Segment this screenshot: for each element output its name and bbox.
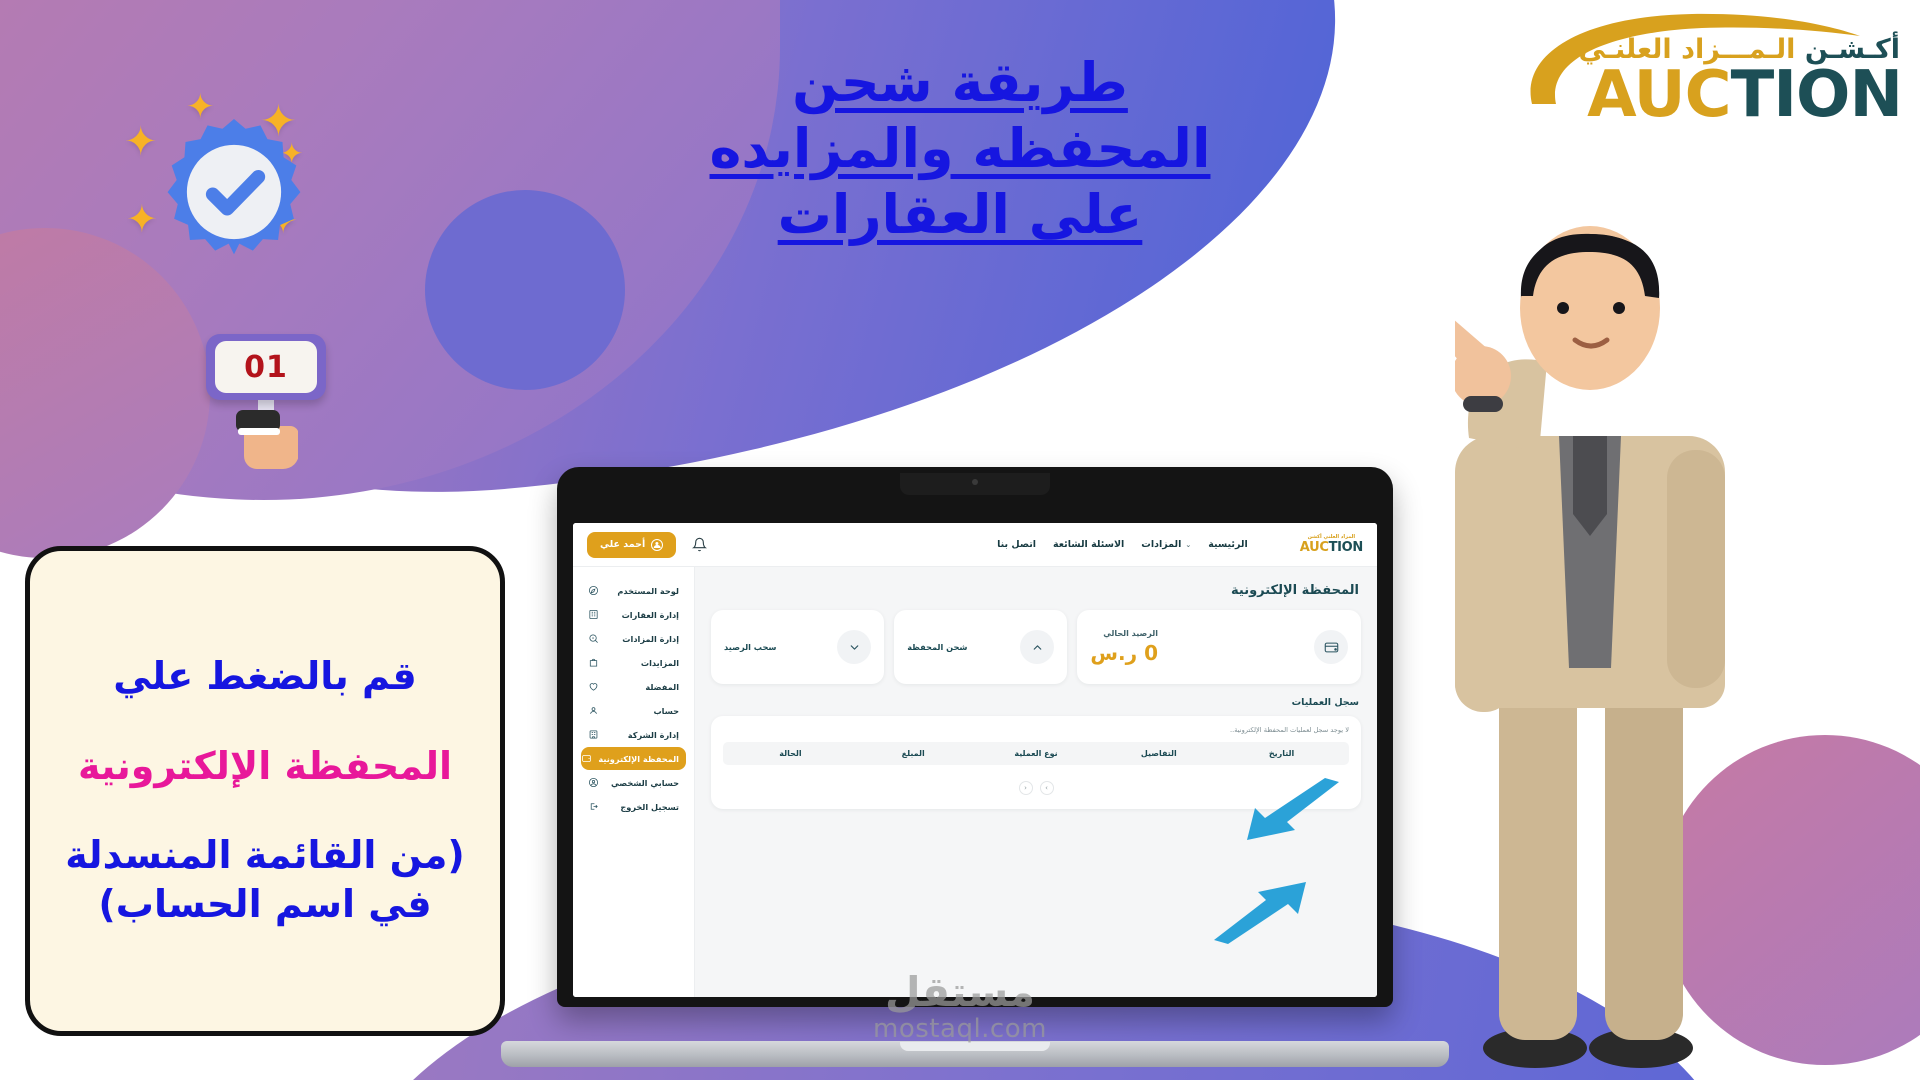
sidebar-item-wallet[interactable]: المحفظة الإلكترونية bbox=[581, 747, 686, 770]
auction-web-app: المزاد العلني أكشن AUCTION الرئيسية ⌄ ال… bbox=[573, 523, 1377, 997]
pager-prev-button[interactable]: ‹ bbox=[1019, 781, 1033, 795]
logo-wordmark-tion: TION bbox=[1731, 58, 1902, 132]
nav-link-home-label: الرئيسية bbox=[1208, 539, 1247, 550]
transactions-log-title: سجل العمليات bbox=[713, 697, 1359, 708]
company-icon bbox=[588, 729, 599, 740]
gavel-search-icon bbox=[588, 633, 599, 644]
balance-value: 0 ر.س bbox=[1090, 641, 1158, 665]
column-header-details: التفاصيل bbox=[1097, 749, 1220, 758]
topup-wallet-label: شحن المحفظة bbox=[907, 642, 967, 652]
withdraw-balance-label: سحب الرصيد bbox=[724, 642, 776, 652]
sidebar-item-favorites-label: المفضلة bbox=[605, 682, 679, 692]
laptop-camera-icon bbox=[972, 479, 978, 485]
laptop-lid: المزاد العلني أكشن AUCTION الرئيسية ⌄ ال… bbox=[557, 467, 1393, 1007]
page-title: المحفظة الإلكترونية bbox=[713, 583, 1359, 598]
step-number-label: 01 bbox=[215, 341, 317, 393]
auction-logo: أكـشـن الـمـــزاد العلنـي AUCTION bbox=[1516, 8, 1906, 128]
user-avatar-icon bbox=[651, 539, 663, 551]
nav-link-auctions[interactable]: ⌄ المزادات bbox=[1141, 539, 1191, 550]
column-header-date: التاريخ bbox=[1220, 749, 1343, 758]
sidebar-item-wallet-label: المحفظة الإلكترونية bbox=[598, 754, 679, 764]
user-account-button[interactable]: أحمد علي bbox=[587, 532, 676, 558]
navbar-logo-wordmark: AUCTION bbox=[1300, 540, 1363, 555]
sidebar-item-logout-label: تسجيل الخروج bbox=[605, 802, 679, 812]
column-header-operation-type: نوع العملية bbox=[975, 749, 1098, 758]
withdraw-balance-card[interactable]: سحب الرصيد bbox=[711, 610, 884, 684]
sidebar-item-properties-label: إدارة العقارات bbox=[605, 610, 679, 620]
sidebar-item-favorites[interactable]: المفضلة bbox=[581, 675, 686, 698]
chevron-up-icon bbox=[1020, 630, 1054, 664]
instruction-line-1: قم بالضغط علي bbox=[113, 652, 416, 701]
sidebar-item-bids-label: المزايدات bbox=[605, 658, 679, 668]
bag-icon bbox=[588, 657, 599, 668]
sidebar-item-company[interactable]: إدارة الشركة bbox=[581, 723, 686, 746]
pager-next-button[interactable]: › bbox=[1040, 781, 1054, 795]
laptop-screen: المزاد العلني أكشن AUCTION الرئيسية ⌄ ال… bbox=[573, 523, 1377, 997]
sidebar-item-manage-auctions-label: إدارة المزادات bbox=[605, 634, 679, 644]
sidebar-item-manage-auctions[interactable]: إدارة المزادات bbox=[581, 627, 686, 650]
pointing-character-illustration bbox=[1455, 200, 1725, 1080]
balance-card: الرصيد الحالي 0 ر.س bbox=[1077, 610, 1361, 684]
sidebar-item-my-profile[interactable]: حسابي الشخصي bbox=[581, 771, 686, 794]
hand-holding-sign-icon bbox=[236, 410, 298, 476]
step-number-sign: 01 bbox=[206, 334, 326, 429]
heart-icon bbox=[588, 681, 599, 692]
navbar-right-group: أحمد علي bbox=[587, 532, 707, 558]
bell-icon[interactable] bbox=[692, 537, 707, 552]
instruction-line-3: (من القائمة المنسدلة في اسم الحساب) bbox=[58, 831, 472, 930]
transactions-empty-note: لا يوجد سجل لعمليات المحفظة الإلكترونية.… bbox=[723, 726, 1349, 734]
dashboard-icon bbox=[588, 585, 599, 596]
sidebar-item-my-profile-label: حسابي الشخصي bbox=[605, 778, 679, 788]
person-icon bbox=[588, 777, 599, 788]
transactions-table-header: التاريخ التفاصيل نوع العملية المبلغ الحا… bbox=[723, 742, 1349, 765]
user-name-label: أحمد علي bbox=[600, 539, 645, 550]
transactions-panel: لا يوجد سجل لعمليات المحفظة الإلكترونية.… bbox=[711, 716, 1361, 809]
wallet-cards-row: الرصيد الحالي 0 ر.س شحن المحفظة bbox=[711, 610, 1361, 684]
logout-icon bbox=[588, 801, 599, 812]
title-line-1: طريقة شحن bbox=[560, 50, 1360, 116]
account-icon bbox=[588, 705, 599, 716]
topup-wallet-card[interactable]: شحن المحفظة bbox=[894, 610, 1067, 684]
sidebar-item-dashboard[interactable]: لوحة المستخدم bbox=[581, 579, 686, 602]
sign-board: 01 bbox=[206, 334, 326, 400]
credit-card-icon bbox=[1314, 630, 1348, 664]
navbar-links: الرئيسية ⌄ المزادات الاسئلة الشائعة اتصل… bbox=[997, 539, 1248, 550]
instruction-line-2: المحفظة الإلكترونية bbox=[78, 742, 452, 791]
logo-wordmark: AUCTION bbox=[1587, 58, 1902, 132]
watermark-arabic: مستقل bbox=[873, 968, 1047, 1016]
sidebar-item-logout[interactable]: تسجيل الخروج bbox=[581, 795, 686, 818]
sidebar-item-properties[interactable]: إدارة العقارات bbox=[581, 603, 686, 626]
balance-text: الرصيد الحالي 0 ر.س bbox=[1090, 629, 1158, 665]
navbar-logo[interactable]: المزاد العلني أكشن AUCTION bbox=[1300, 534, 1363, 555]
sidebar-item-account-label: حساب bbox=[605, 706, 679, 716]
sidebar-item-dashboard-label: لوحة المستخدم bbox=[605, 586, 679, 596]
nav-link-contact[interactable]: اتصل بنا bbox=[997, 539, 1036, 550]
poster-canvas: ✦ ✦ ✦ ✦ ✦ ✦ ✦ ✦ طريقة شحن المحفظه والمزا… bbox=[0, 0, 1920, 1080]
column-header-status: الحالة bbox=[729, 749, 852, 758]
nav-link-auctions-label: المزادات bbox=[1141, 539, 1181, 550]
transactions-pager: › ‹ bbox=[723, 781, 1349, 795]
sidebar-item-company-label: إدارة الشركة bbox=[605, 730, 679, 740]
chevron-down-icon: ⌄ bbox=[1185, 541, 1191, 549]
wallet-icon bbox=[581, 753, 592, 764]
column-header-amount: المبلغ bbox=[852, 749, 975, 758]
app-sidebar: لوحة المستخدم إدارة العقارات إدارة المزا… bbox=[573, 567, 695, 997]
sparkle-icon: ✦ bbox=[126, 200, 158, 238]
sidebar-item-account[interactable]: حساب bbox=[581, 699, 686, 722]
mostaql-watermark: مستقل mostaql.com bbox=[873, 968, 1047, 1044]
sidebar-item-bids[interactable]: المزايدات bbox=[581, 651, 686, 674]
balance-caption: الرصيد الحالي bbox=[1090, 629, 1158, 638]
chevron-down-icon bbox=[837, 630, 871, 664]
navbar-logo-auc: AUC bbox=[1300, 540, 1329, 555]
wallet-content: المحفظة الإلكترونية bbox=[695, 567, 1377, 997]
verified-badge-illustration: ✦ ✦ ✦ ✦ ✦ ✦ ✦ ✦ bbox=[118, 78, 348, 308]
nav-link-home[interactable]: الرئيسية bbox=[1208, 539, 1247, 550]
building-icon bbox=[588, 609, 599, 620]
instruction-card: قم بالضغط علي المحفظة الإلكترونية (من ال… bbox=[25, 546, 505, 1036]
nav-link-contact-label: اتصل بنا bbox=[997, 539, 1036, 550]
verified-check-icon bbox=[158, 116, 310, 268]
app-body: المحفظة الإلكترونية bbox=[573, 567, 1377, 997]
nav-link-faq[interactable]: الاسئلة الشائعة bbox=[1053, 539, 1124, 550]
logo-wordmark-auc: AUC bbox=[1587, 58, 1731, 132]
title-line-2: المحفظه والمزايده bbox=[560, 116, 1360, 182]
navbar-logo-tion: TION bbox=[1329, 540, 1363, 555]
poster-title: طريقة شحن المحفظه والمزايده على العقارات bbox=[560, 50, 1360, 248]
sparkle-icon: ✦ bbox=[124, 122, 158, 162]
title-line-3: على العقارات bbox=[560, 182, 1360, 248]
nav-link-faq-label: الاسئلة الشائعة bbox=[1053, 539, 1124, 550]
app-navbar: المزاد العلني أكشن AUCTION الرئيسية ⌄ ال… bbox=[573, 523, 1377, 567]
watermark-latin: mostaql.com bbox=[873, 1014, 1047, 1044]
